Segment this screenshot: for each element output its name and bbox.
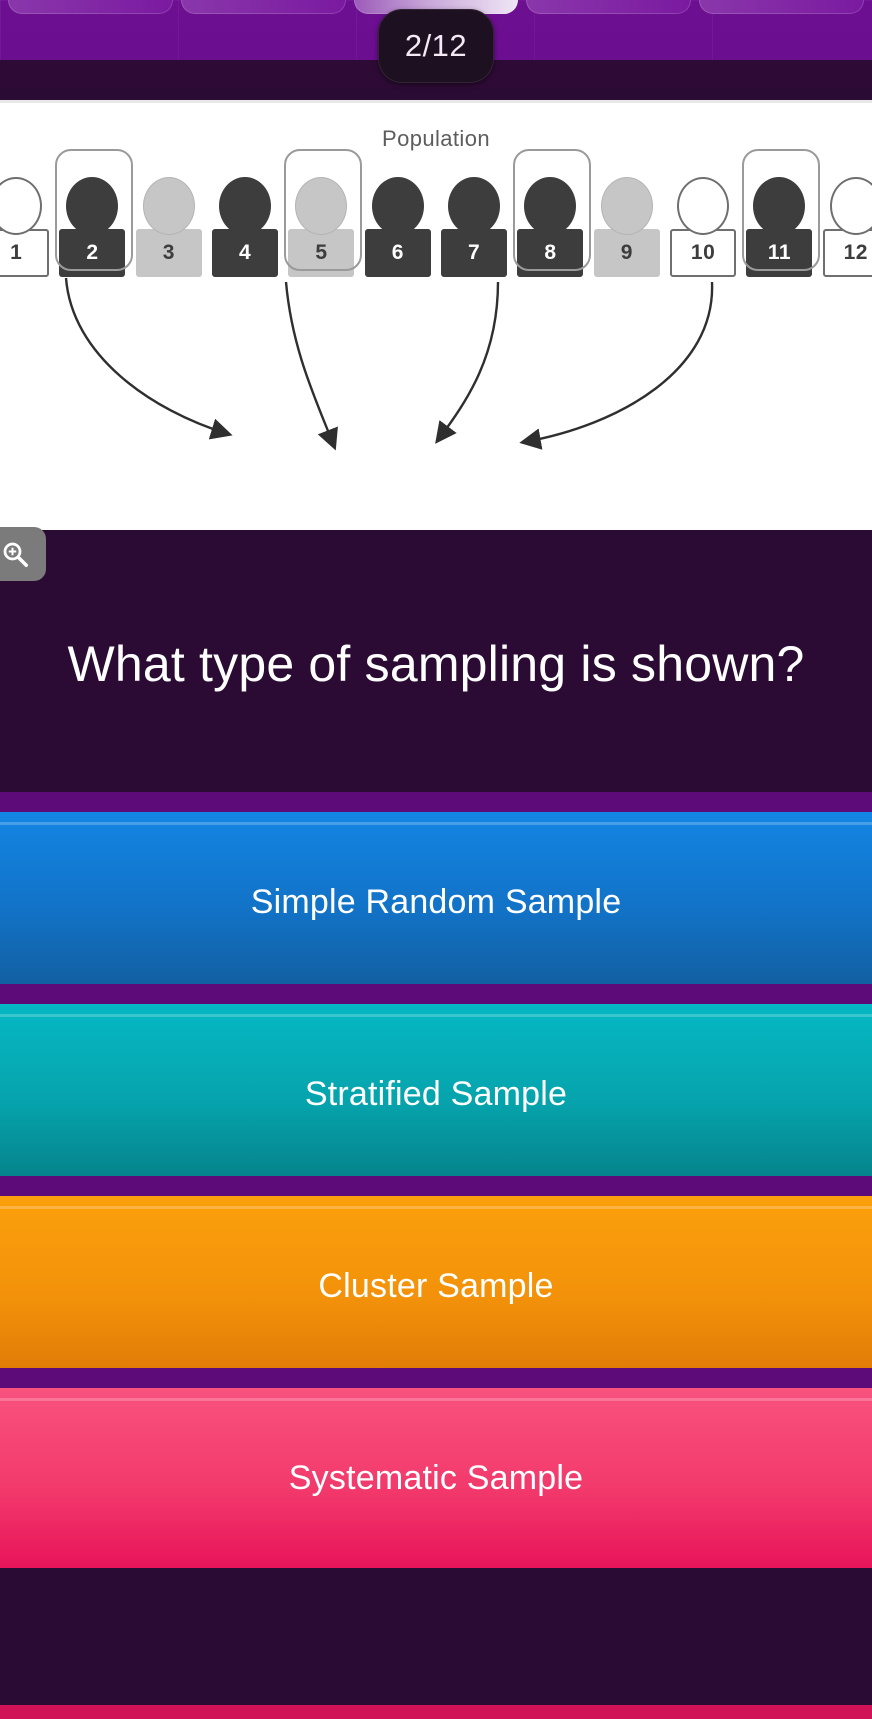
- population-row: 123456789101112: [0, 152, 872, 277]
- answer-divider-3: [0, 1176, 872, 1196]
- progress-segment-2: [181, 0, 346, 14]
- question-container: What type of sampling is shown?: [0, 536, 872, 792]
- progress-segment-5: [699, 0, 864, 14]
- quiz-screen: 2/12 Population 123456789101112 25811 Sa…: [0, 0, 872, 1719]
- person-head-icon: [524, 177, 576, 235]
- answer-sheen: [0, 1014, 872, 1017]
- person-head-icon: [677, 177, 729, 235]
- answer-button-1[interactable]: Simple Random Sample: [0, 812, 872, 992]
- population-person-2: 2: [59, 155, 125, 277]
- person-head-icon: [0, 177, 42, 235]
- answer-label: Cluster Sample: [318, 1267, 553, 1306]
- question-image-panel[interactable]: Population 123456789101112 25811 Sample …: [0, 100, 872, 530]
- answer-sheen: [0, 1206, 872, 1209]
- population-person-4: 4: [212, 155, 278, 277]
- answer-label: Simple Random Sample: [251, 883, 622, 922]
- progress-segment-1: [8, 0, 173, 14]
- progress-segment-4: [526, 0, 691, 14]
- population-person-3: 3: [136, 155, 202, 277]
- person-head-icon: [601, 177, 653, 235]
- population-person-10: 10: [670, 155, 736, 277]
- answer-button-3[interactable]: Cluster Sample: [0, 1196, 872, 1376]
- sample-person-5: 5: [348, 520, 418, 530]
- person-head-icon: [830, 177, 872, 235]
- sampling-arrows: [0, 260, 872, 520]
- question-counter-badge: 2/12: [378, 9, 494, 83]
- answer-label: Systematic Sample: [289, 1459, 583, 1498]
- magnifier-icon[interactable]: [0, 527, 46, 581]
- population-person-7: 7: [441, 155, 507, 277]
- person-head-icon: [143, 177, 195, 235]
- sample-row: 25811: [0, 515, 872, 530]
- population-person-9: 9: [594, 155, 660, 277]
- person-head-icon: [372, 177, 424, 235]
- answer-button-4[interactable]: Systematic Sample: [0, 1388, 872, 1568]
- answer-divider-2: [0, 984, 872, 1004]
- population-person-12: 12: [823, 155, 872, 277]
- bottom-accent-band: [0, 1705, 872, 1719]
- answer-sheen: [0, 1398, 872, 1401]
- population-label: Population: [0, 126, 872, 152]
- sample-person-8: 8: [454, 520, 524, 530]
- answer-sheen: [0, 822, 872, 825]
- question-text: What type of sampling is shown?: [67, 631, 804, 698]
- person-head-icon: [753, 177, 805, 235]
- image-top-rule: [0, 100, 872, 103]
- answer-divider-1: [0, 792, 872, 812]
- answer-divider-4: [0, 1368, 872, 1388]
- population-person-5: 5: [288, 155, 354, 277]
- sample-person-2: 2: [242, 520, 312, 530]
- population-person-11: 11: [746, 155, 812, 277]
- population-person-8: 8: [517, 155, 583, 277]
- answer-button-2[interactable]: Stratified Sample: [0, 1004, 872, 1184]
- population-person-1: 1: [0, 155, 49, 277]
- person-head-icon: [295, 177, 347, 235]
- magnifier-glyph: [0, 539, 30, 569]
- answer-label: Stratified Sample: [305, 1075, 567, 1114]
- population-person-6: 6: [365, 155, 431, 277]
- sample-person-11: 11: [560, 520, 630, 530]
- person-head-icon: [448, 177, 500, 235]
- person-head-icon: [66, 177, 118, 235]
- person-head-icon: [219, 177, 271, 235]
